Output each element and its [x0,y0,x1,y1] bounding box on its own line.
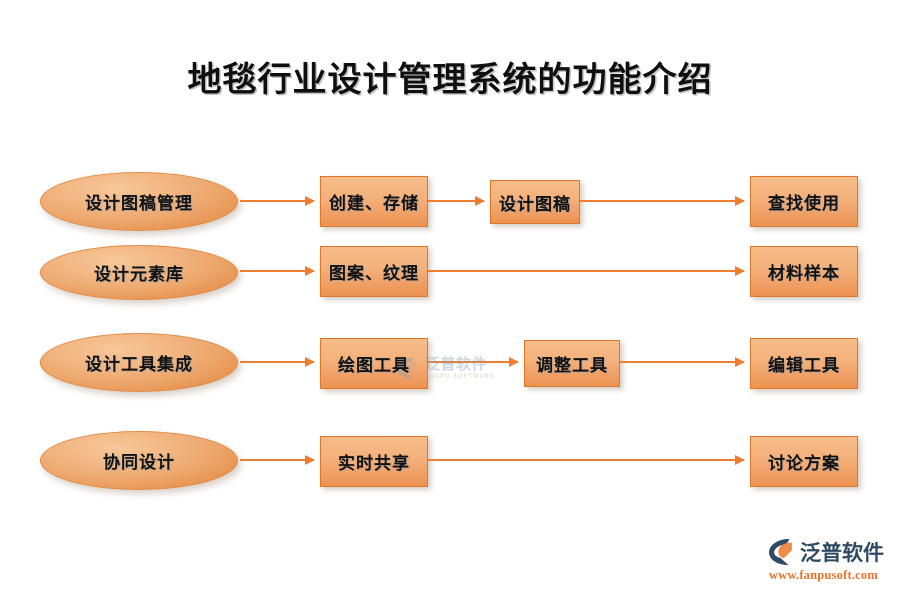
node-label: 图案、纹理 [329,259,419,284]
node-pattern-texture[interactable]: 图案、纹理 [320,246,428,297]
node-label: 实时共享 [338,449,410,474]
node-label: 创建、存储 [329,189,419,214]
connector-row3-start-to-step1 [240,361,314,363]
node-label: 调整工具 [536,351,608,376]
fanpu-logo-icon [768,538,798,566]
node-label: 协同设计 [103,448,175,473]
node-label: 设计工具集成 [85,350,193,375]
node-find-use[interactable]: 查找使用 [750,176,858,227]
connector-row4-step1-to-step2 [428,459,744,461]
node-label: 绘图工具 [338,351,410,376]
node-label: 设计元素库 [94,260,184,285]
connector-row4-start-to-step1 [240,459,314,461]
node-adjust-tool[interactable]: 调整工具 [524,340,620,387]
node-create-store[interactable]: 创建、存储 [320,176,428,227]
node-label: 查找使用 [768,189,840,214]
logo-company-name: 泛普软件 [800,537,884,567]
node-tool-integration[interactable]: 设计工具集成 [40,333,238,392]
node-design-draft[interactable]: 设计图稿 [490,180,580,224]
node-realtime-share[interactable]: 实时共享 [320,436,428,487]
node-label: 材料样本 [768,259,840,284]
logo-website-url: www.fanpusoft.com [769,568,892,583]
node-element-library[interactable]: 设计元素库 [40,245,238,300]
node-discuss-plan[interactable]: 讨论方案 [750,436,858,487]
watermark-company-name-en: FANPU SOFTWARE [425,374,495,380]
node-collaborative-design[interactable]: 协同设计 [40,431,238,490]
connector-row2-step1-to-step2 [428,270,744,272]
node-label: 设计图稿管理 [85,189,193,214]
watermark-company-name: 泛普软件 [425,357,495,372]
node-drawing-tool[interactable]: 绘图工具 [320,338,428,389]
connector-row1-step2-to-step3 [580,200,744,202]
connector-row1-step1-to-step2 [428,200,484,202]
connector-row3-step1-to-step2 [428,361,518,363]
connector-row1-start-to-step1 [240,200,314,202]
node-label: 设计图稿 [499,190,571,215]
connector-row3-step2-to-step3 [620,361,744,363]
node-design-draft-mgmt[interactable]: 设计图稿管理 [40,172,238,231]
node-label: 讨论方案 [768,449,840,474]
node-edit-tool[interactable]: 编辑工具 [750,338,858,389]
connector-row2-start-to-step1 [240,270,314,272]
brand-logo: 泛普软件 www.fanpusoft.com [768,537,892,583]
node-material-sample[interactable]: 材料样本 [750,246,858,297]
diagram-canvas: 地毯行业设计管理系统的功能介绍 设计图稿管理 创建、存储 设计图稿 查找使用 设… [0,0,900,600]
node-label: 编辑工具 [768,351,840,376]
page-title: 地毯行业设计管理系统的功能介绍 [0,52,900,101]
